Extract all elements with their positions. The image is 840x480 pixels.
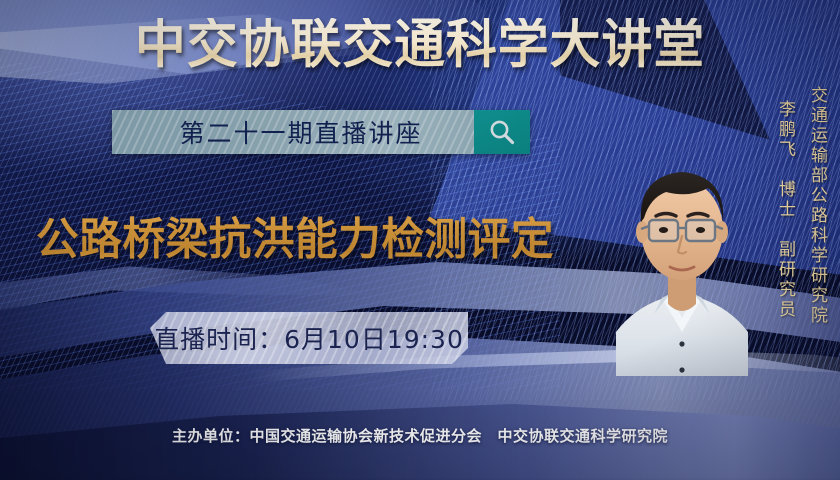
speaker-portrait — [604, 118, 760, 376]
lecture-title: 公路桥梁抗洪能力检测评定 — [36, 203, 554, 267]
subtitle-text: 第二十一期直播讲座 — [153, 114, 432, 150]
subtitle-bar-fill: 第二十一期直播讲座 — [112, 110, 474, 154]
organizer-footer: 主办单位：中国交通运输协会新技术促进分会 中交协联交通科学研究院 — [0, 425, 840, 446]
live-time-banner: 直播时间：6月10日19:30 — [150, 312, 468, 364]
live-time-text: 直播时间：6月10日19:30 — [154, 320, 464, 356]
main-title: 中交协联交通科学大讲堂 — [17, 18, 823, 71]
search-icon — [487, 117, 517, 147]
speaker-organization: 交通运输部公路科学研究院 — [805, 86, 830, 326]
live-lecture-poster: 中交协联交通科学大讲堂 第二十一期直播讲座 公路桥梁抗洪能力检测评定 直播时间：… — [0, 0, 840, 480]
search-icon-box[interactable] — [474, 110, 530, 154]
subtitle-bar: 第二十一期直播讲座 — [112, 110, 530, 154]
speaker-name-title: 李鹏飞 博士 副研究员 — [773, 100, 798, 320]
